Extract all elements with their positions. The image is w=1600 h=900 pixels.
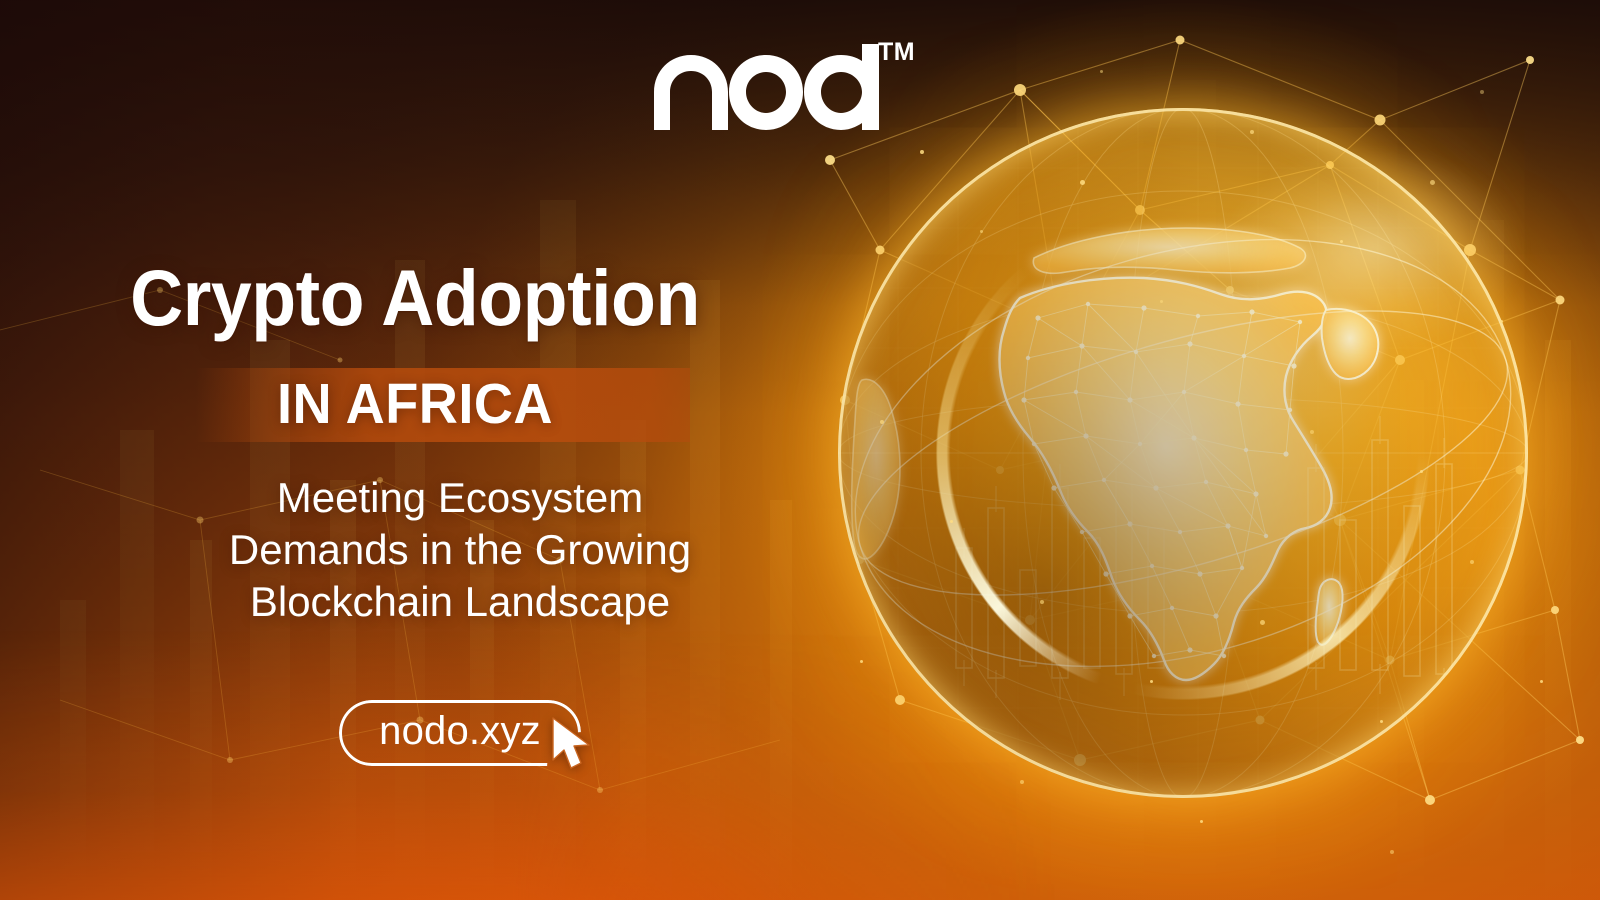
website-url-label: nodo.xyz xyxy=(379,709,541,754)
subtitle-line-2: Demands in the Growing xyxy=(0,524,920,576)
mouse-pointer-icon xyxy=(549,716,595,772)
page-title: Crypto Adoption xyxy=(29,258,801,339)
subtitle-block: Meeting Ecosystem Demands in the Growing… xyxy=(0,472,920,628)
nodo-logo[interactable]: TM xyxy=(650,44,930,144)
headline-block: Crypto Adoption IN AFRICA xyxy=(0,258,830,339)
subtitle-line-1: Meeting Ecosystem xyxy=(0,472,920,524)
nodo-wordmark-icon xyxy=(650,44,900,136)
page-subtitle-region: IN AFRICA xyxy=(21,376,810,433)
trademark-symbol: TM xyxy=(878,40,915,65)
poster-canvas: TM Crypto Adoption IN AFRICA Meeting Eco… xyxy=(0,0,1600,900)
website-url-button[interactable]: nodo.xyz xyxy=(339,700,581,766)
subtitle-line-3: Blockchain Landscape xyxy=(0,576,920,628)
